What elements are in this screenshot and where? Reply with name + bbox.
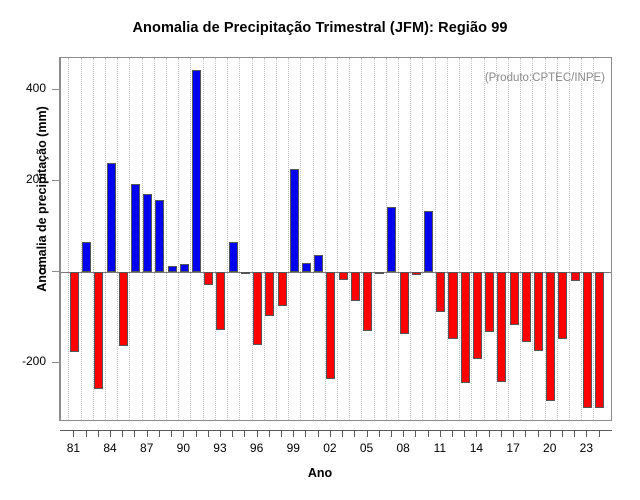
x-axis-tick-label: 11 <box>425 441 455 455</box>
bar <box>595 272 604 408</box>
x-axis-tick-label: 87 <box>132 441 162 455</box>
y-axis-tick-label: 0 <box>39 263 46 277</box>
x-axis-tick-label: 20 <box>535 441 565 455</box>
x-axis-tick <box>122 430 123 437</box>
bar <box>400 272 409 334</box>
x-axis-tick <box>159 430 160 437</box>
bar <box>497 272 506 383</box>
bar <box>253 272 262 345</box>
x-axis-tick <box>476 430 477 437</box>
bar-series <box>61 58 611 420</box>
bar <box>339 272 348 280</box>
bar <box>180 264 189 272</box>
bar <box>265 272 274 317</box>
x-axis-tick <box>489 430 490 437</box>
x-axis-tick <box>244 430 245 437</box>
x-axis-tick <box>232 430 233 437</box>
x-axis-tick-label: 99 <box>278 441 308 455</box>
bar <box>216 272 225 330</box>
x-axis-tick <box>281 430 282 437</box>
x-axis-tick <box>208 430 209 437</box>
x-axis-tick <box>501 430 502 437</box>
bar <box>314 255 323 272</box>
y-axis-label: Anomalia de precipitação (mm) <box>35 69 49 329</box>
x-axis-tick <box>379 430 380 437</box>
x-axis-tick <box>73 430 74 437</box>
x-axis-tick <box>562 430 563 437</box>
product-credit-annotation: (Produto:CPTEC/INPE) <box>485 72 605 84</box>
y-axis-tick-label: 200 <box>26 172 46 186</box>
chart-root: Anomalia de Precipitação Trimestral (JFM… <box>0 0 640 500</box>
x-axis-tick <box>305 430 306 437</box>
y-axis-tick <box>52 362 59 363</box>
bar <box>375 272 384 274</box>
y-axis-tick <box>52 180 59 181</box>
bar <box>558 272 567 339</box>
x-axis-tick <box>134 430 135 437</box>
y-axis-tick <box>52 89 59 90</box>
x-axis-tick <box>538 430 539 437</box>
chart-title: Anomalia de Precipitação Trimestral (JFM… <box>0 20 640 36</box>
x-axis-tick-label: 84 <box>95 441 125 455</box>
bar <box>192 70 201 272</box>
x-axis-tick <box>183 430 184 437</box>
x-axis-tick-label: 02 <box>315 441 345 455</box>
bar <box>131 184 140 272</box>
bar <box>510 272 519 325</box>
x-axis-tick <box>342 430 343 437</box>
plot-area: (Produto:CPTEC/INPE) <box>60 57 612 421</box>
x-axis-tick <box>415 430 416 437</box>
bar <box>229 242 238 272</box>
x-axis-tick <box>599 430 600 437</box>
x-axis-tick <box>428 430 429 437</box>
bar <box>278 272 287 306</box>
x-axis-tick <box>367 430 368 437</box>
x-axis-tick <box>318 430 319 437</box>
x-axis-tick <box>586 430 587 437</box>
x-axis-tick-label: 17 <box>498 441 528 455</box>
bar <box>326 272 335 379</box>
x-axis-tick <box>171 430 172 437</box>
x-axis-tick <box>550 430 551 437</box>
x-axis-tick-label: 14 <box>461 441 491 455</box>
bar <box>485 272 494 333</box>
bar <box>473 272 482 359</box>
x-axis-tick <box>574 430 575 437</box>
bar <box>94 272 103 389</box>
x-axis-tick-label: 81 <box>58 441 88 455</box>
x-axis-tick <box>269 430 270 437</box>
bar <box>412 272 421 276</box>
x-axis-tick <box>293 430 294 437</box>
bar <box>82 242 91 272</box>
x-axis-tick <box>464 430 465 437</box>
x-axis-tick <box>98 430 99 437</box>
x-axis-tick <box>391 430 392 437</box>
x-axis-label: Ano <box>0 466 640 480</box>
bar <box>302 263 311 272</box>
bar <box>155 200 164 271</box>
bar <box>522 272 531 342</box>
x-axis-tick <box>330 430 331 437</box>
x-axis-tick <box>513 430 514 437</box>
bar <box>461 272 470 383</box>
x-axis-tick <box>110 430 111 437</box>
bar <box>107 163 116 272</box>
bar <box>424 211 433 272</box>
y-axis-tick <box>52 271 59 272</box>
bar <box>534 272 543 351</box>
bar <box>583 272 592 408</box>
x-axis-tick <box>147 430 148 437</box>
bar <box>351 272 360 301</box>
x-axis-tick-label: 96 <box>242 441 272 455</box>
x-axis-tick-label: 23 <box>571 441 601 455</box>
x-axis-tick <box>196 430 197 437</box>
bar <box>290 169 299 272</box>
x-axis-tick <box>440 430 441 437</box>
bar <box>143 194 152 272</box>
y-axis-tick-label: -200 <box>22 354 46 368</box>
x-axis-tick-label: 08 <box>388 441 418 455</box>
x-axis-line <box>60 430 612 431</box>
bar <box>168 266 177 272</box>
bar <box>70 272 79 352</box>
x-axis-tick <box>354 430 355 437</box>
x-axis-tick-label: 05 <box>352 441 382 455</box>
x-axis-tick <box>525 430 526 437</box>
bar <box>436 272 445 312</box>
y-axis-tick-label: 400 <box>26 81 46 95</box>
bar <box>204 272 213 286</box>
x-axis-tick <box>86 430 87 437</box>
bar <box>119 272 128 347</box>
bar <box>241 272 250 274</box>
bar <box>546 272 555 401</box>
bar <box>571 272 580 281</box>
x-axis-tick <box>452 430 453 437</box>
bar <box>387 207 396 272</box>
bar <box>448 272 457 339</box>
bar <box>363 272 372 332</box>
x-axis-tick-label: 90 <box>168 441 198 455</box>
x-axis-tick <box>257 430 258 437</box>
x-axis-tick <box>220 430 221 437</box>
x-axis-tick-label: 93 <box>205 441 235 455</box>
x-axis-tick <box>403 430 404 437</box>
